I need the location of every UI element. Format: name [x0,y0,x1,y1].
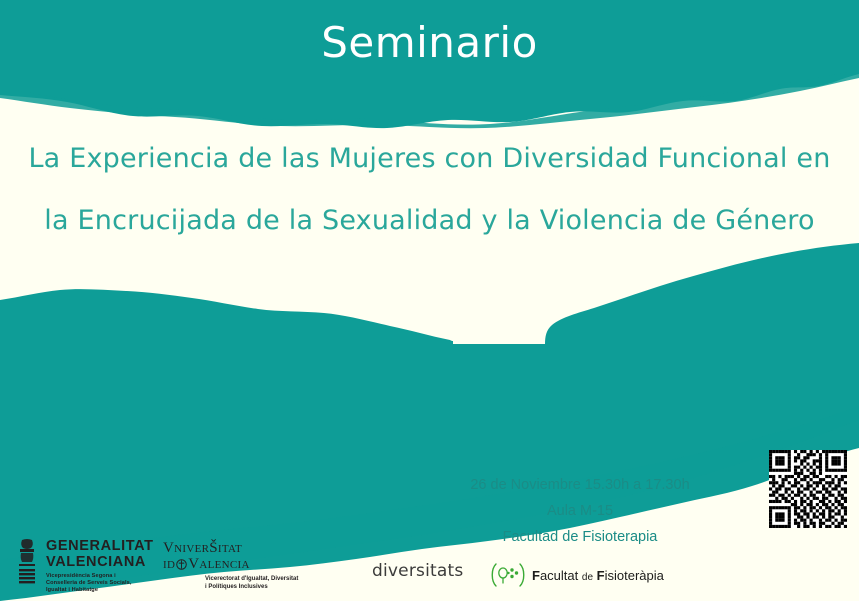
qr-code[interactable] [769,450,847,528]
universitat-seal-icon [176,559,187,570]
generalitat-sub-line-3: Igualtat i Habitatge [46,587,154,594]
generalitat-line-2: VALENCIANA [46,555,154,571]
poster-title: La Experiencia de las Mujeres con Divers… [0,128,859,252]
event-room: Aula M-15 [430,498,730,524]
universitat-line-2: id Valencia [163,556,298,572]
event-datetime: 26 de Noviembre 15.30h a 17.30h [430,472,730,498]
qr-code-image [769,450,847,528]
universitat-sub-line-2: i Polítiques Inclusives [205,584,298,592]
generalitat-sub: Vicepresidència Segona i Conselleria de … [46,573,154,595]
generalitat-sub-line-2: Conselleria de Serveis Socials, [46,580,154,587]
universitat-sub-line-1: Vicerectorat d'Igualtat, Diversitat [205,576,298,584]
logo-facultat-fisioterapia: Facultat de Fisioteràpia [489,562,664,588]
poster-heading: Seminario [0,18,859,67]
fisioterapia-de: de [582,572,593,583]
fisioterapia-rest1: acultat [540,568,578,583]
diversitats-wordmark: diversitats [372,561,463,581]
title-line-2: la Encrucijada de la Sexualidad y la Vio… [0,190,859,252]
universitat-line-2-prefix: id [163,556,175,572]
fisioterapia-wordmark: Facultat de Fisioteràpia [532,568,664,583]
title-line-1: La Experiencia de las Mujeres con Divers… [0,128,859,190]
generalitat-sub-line-1: Vicepresidència Segona i [46,573,154,580]
logo-universitat-valencia: VniverŠitat id Valencia Vicerectorat d'I… [163,540,298,591]
generalitat-crest-icon [14,538,40,588]
universitat-sub: Vicerectorat d'Igualtat, Diversitat i Po… [205,576,298,591]
fisioterapia-f2: F [597,568,605,583]
fisioterapia-f1: F [532,568,540,583]
fisioterapia-emblem-icon [489,562,527,588]
logo-diversitats: diversitats [372,561,463,581]
generalitat-text: GENERALITAT VALENCIANA Vicepresidència S… [46,538,154,595]
fisioterapia-rest2: isioteràpia [605,568,664,583]
logo-generalitat-valenciana: GENERALITAT VALENCIANA Vicepresidència S… [14,538,154,595]
generalitat-line-1: GENERALITAT [46,539,154,555]
footer-logos: GENERALITAT VALENCIANA Vicepresidència S… [0,534,859,601]
universitat-line-2-suffix: Valencia [188,556,250,572]
universitat-line-1: VniverŠitat [163,540,298,556]
top-band-fringe [0,70,859,128]
poster: Seminario La Experiencia de las Mujeres … [0,0,859,601]
